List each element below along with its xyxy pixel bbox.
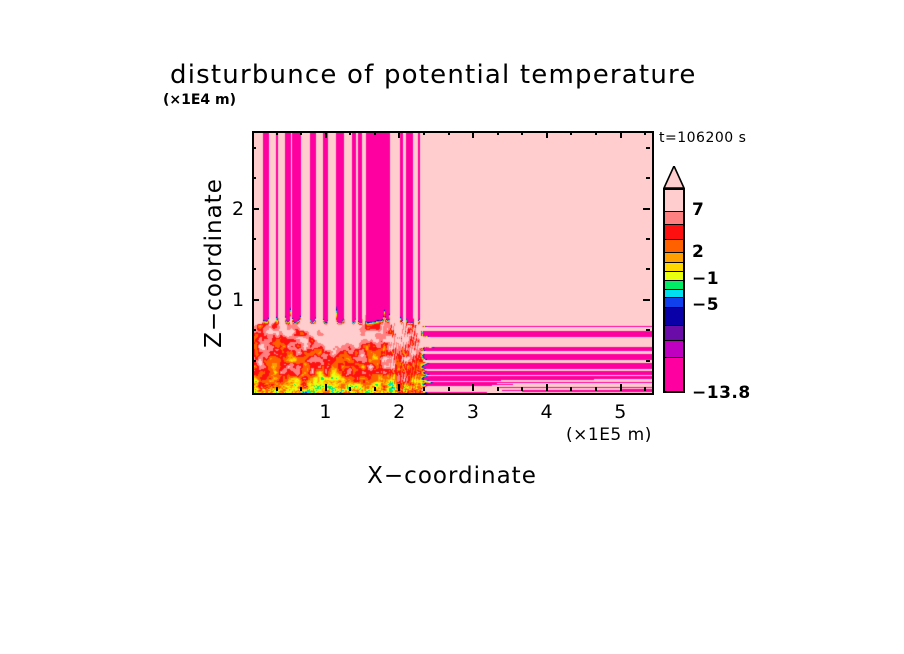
x-axis-tick [325,384,327,391]
y-axis-minor-tick [646,147,650,149]
timestamp-annotation: t=106200 s [659,130,746,146]
colorbar-tick-label: 2 [692,242,704,262]
colorbar-band [665,272,683,280]
x-axis-minor-tick [497,131,499,135]
y-axis-minor-tick [646,177,650,179]
colorbar-band [665,240,683,253]
colorbar-band [665,341,683,358]
x-axis-minor-tick [570,387,572,391]
z-axis-units-label: (×1E4 m) [163,92,236,108]
x-axis-minor-tick [521,131,523,135]
x-axis-units-label: (×1E5 m) [566,425,652,445]
figure-root: disturbunce of potential temperature (×1… [0,0,904,654]
x-axis-minor-tick [644,387,646,391]
x-axis-minor-tick [374,131,376,135]
y-axis-tick-label: 2 [232,198,245,220]
y-axis-minor-tick [252,238,256,240]
y-axis-minor-tick [252,177,256,179]
x-axis-minor-tick [595,387,597,391]
x-axis-tick [398,131,400,138]
x-axis-minor-tick [497,387,499,391]
x-axis-minor-tick [374,387,376,391]
x-axis-title: X−coordinate [367,463,537,489]
contour-field-canvas [254,133,652,393]
y-axis-minor-tick [252,329,256,331]
x-axis-minor-tick [423,387,425,391]
y-axis-tick-label: 1 [232,289,245,311]
colorbar-band [665,212,683,225]
colorbar-band [665,253,683,263]
x-axis-minor-tick [448,131,450,135]
x-axis-tick [325,131,327,138]
colorbar-band [665,290,683,298]
x-axis-tick [620,131,622,138]
x-axis-tick [398,384,400,391]
colorbar-band [665,263,683,272]
y-axis-tick [252,299,259,301]
x-axis-tick [546,131,548,138]
x-axis-tick-label: 5 [614,401,627,423]
y-axis-minor-tick [252,360,256,362]
colorbar-tick-label: 7 [692,200,704,220]
y-axis-tick [252,208,259,210]
colorbar [663,188,685,393]
x-axis-minor-tick [570,131,572,135]
y-axis-tick [643,208,650,210]
x-axis-minor-tick [521,387,523,391]
colorbar-tick-label: −13.8 [692,383,751,403]
x-axis-minor-tick [276,387,278,391]
x-axis-minor-tick [276,131,278,135]
x-axis-minor-tick [423,131,425,135]
colorbar-band [665,298,683,307]
x-axis-tick [546,384,548,391]
colorbar-band [665,281,683,290]
x-axis-minor-tick [349,131,351,135]
y-axis-minor-tick [646,329,650,331]
plot-area [252,131,654,395]
x-axis-tick [620,384,622,391]
y-axis-minor-tick [252,147,256,149]
x-axis-tick-label: 3 [467,401,480,423]
x-axis-minor-tick [448,387,450,391]
x-axis-minor-tick [595,131,597,135]
y-axis-minor-tick [646,268,650,270]
x-axis-tick [472,131,474,138]
x-axis-minor-tick [349,387,351,391]
y-axis-title: Z−coordinate [201,178,227,348]
colorbar-band [665,190,683,212]
x-axis-tick-label: 4 [541,401,554,423]
y-axis-minor-tick [252,268,256,270]
colorbar-band [665,225,683,240]
x-axis-minor-tick [644,131,646,135]
y-axis-minor-tick [646,238,650,240]
chart-title: disturbunce of potential temperature [170,60,697,90]
x-axis-tick-label: 2 [393,401,406,423]
colorbar-arrow-cap-icon [663,166,685,189]
x-axis-minor-tick [300,131,302,135]
y-axis-minor-tick [646,360,650,362]
y-axis-tick [643,299,650,301]
x-axis-minor-tick [300,387,302,391]
x-axis-tick [472,384,474,391]
colorbar-tick-label: −1 [692,269,719,289]
colorbar-tick-label: −5 [692,295,719,315]
colorbar-band [665,326,683,341]
x-axis-tick-label: 1 [319,401,332,423]
colorbar-band [665,308,683,326]
colorbar-band [665,358,683,391]
